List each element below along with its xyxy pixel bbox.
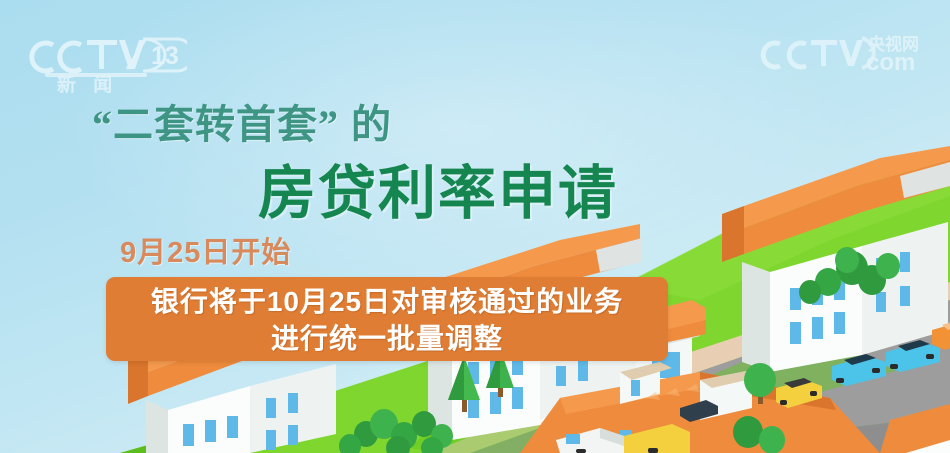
start-date-note: 9月25日开始: [120, 229, 291, 271]
cctv-com-watermark: com 央视网: [758, 32, 938, 80]
headline-line-2: 房贷利率申请: [258, 146, 618, 230]
headline-line-1: “二套转首套”的: [92, 92, 392, 150]
cctv-channel-number: 13: [151, 42, 179, 70]
watermark-chinese-text: 央视网: [868, 34, 919, 54]
announcement-banner-text: 银行将于10月25日对审核通过的业务 进行统一批量调整: [106, 283, 668, 357]
broadcast-frame: 13 新 闻 com 央视网 “二套转首套”的: [0, 0, 950, 453]
announcement-banner: 银行将于10月25日对审核通过的业务 进行统一批量调整: [106, 277, 668, 361]
headline-quoted-term: “二套转首套”: [92, 102, 339, 147]
headline-particle: 的: [351, 103, 392, 147]
announcement-line-2: 进行统一批量调整: [106, 320, 668, 357]
cctv13-news-logo: 13 新 闻: [27, 31, 187, 93]
announcement-line-1: 银行将于10月25日对审核通过的业务: [106, 283, 668, 320]
cctv-subtitle: 新 闻: [57, 73, 118, 93]
